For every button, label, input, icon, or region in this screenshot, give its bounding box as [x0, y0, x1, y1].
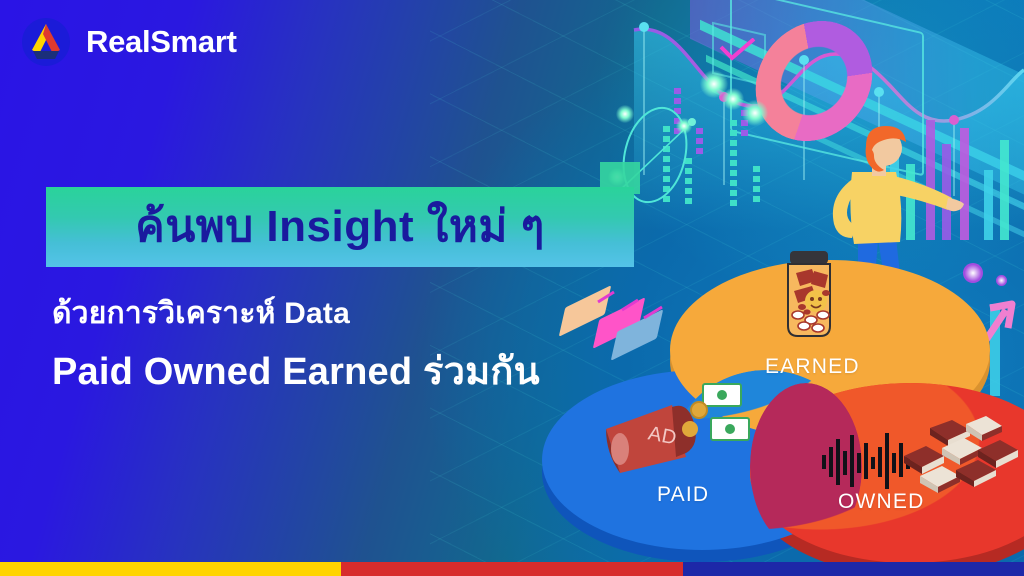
banknote-icon [710, 417, 750, 441]
subheadline-line-2: Paid Owned Earned ร่วมกัน [52, 340, 540, 401]
books-stack-icon [890, 410, 1024, 500]
realsmart-triangle-logo-icon [20, 16, 72, 68]
brand-logo[interactable]: RealSmart [20, 16, 237, 68]
venn-label-owned: OWNED [838, 490, 925, 514]
check-mark-icon [718, 38, 756, 62]
page-title: ค้นพบ Insight ใหม่ ๆ [135, 205, 544, 249]
banknote-icon [702, 383, 742, 407]
stripe-segment-red [341, 562, 682, 576]
cookie-jar-icon [778, 249, 840, 341]
footer-color-stripe [0, 562, 1024, 576]
subheadline-line-1: ด้วยการวิเคราะห์ Data [52, 290, 350, 337]
brand-name: RealSmart [86, 24, 237, 60]
venn-label-earned: EARNED [765, 355, 860, 379]
glow-dot [676, 118, 692, 134]
glow-dot [742, 100, 768, 126]
stripe-segment-yellow [0, 562, 341, 576]
glow-dot [616, 105, 634, 123]
coin-icon [690, 401, 708, 419]
venn-label-paid: PAID [657, 483, 709, 507]
marketing-banner: RealSmart ค้นพบ Insight ใหม่ ๆ ด้วยการวิ… [0, 0, 1024, 576]
stripe-segment-blue [683, 562, 1024, 576]
glow-dot [722, 88, 744, 110]
paid-owned-earned-venn-diagram: AD [520, 255, 1024, 565]
